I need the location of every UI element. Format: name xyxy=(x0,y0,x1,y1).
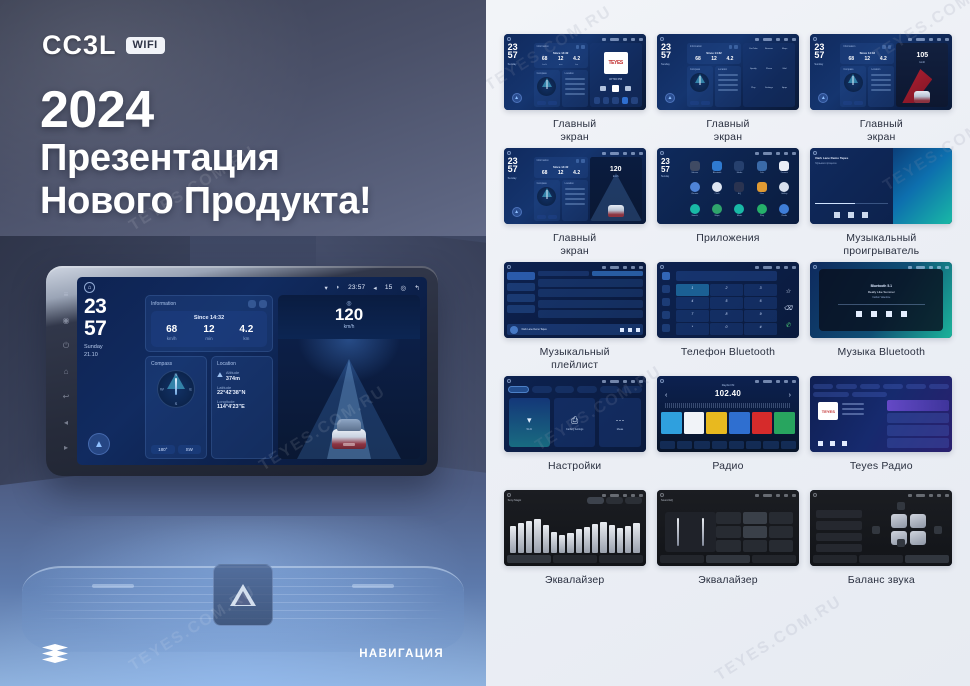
play-store-icon xyxy=(757,204,767,214)
home-icon xyxy=(507,151,511,155)
clock-icon xyxy=(712,182,722,192)
eq-preset-grid[interactable] xyxy=(716,512,793,552)
station-list[interactable] xyxy=(887,400,949,448)
mini-location-lines xyxy=(871,71,891,91)
home-screen-music[interactable]: 23 57 Sunday ▲ Information xyxy=(504,34,646,110)
tile-caption: Музыка Bluetooth xyxy=(838,346,926,359)
mini-home-body: 23 57 Sunday ▲ Information Since 14:32 xyxy=(814,43,948,107)
clock-date: 21.10 xyxy=(84,352,140,360)
mini-stats: 68 12 4.2 xyxy=(690,57,738,62)
mini-status-bar xyxy=(660,264,796,270)
stat-time-value: 12 xyxy=(190,325,227,336)
mini-widget-row: Compass Location xyxy=(687,66,741,108)
key-3[interactable]: 3 xyxy=(744,284,777,296)
tile-caption: Главный экран xyxy=(860,118,903,144)
key-7[interactable]: 7 xyxy=(676,310,709,322)
information-card-actions[interactable] xyxy=(248,300,267,308)
maps-icon xyxy=(712,204,722,214)
console-slot-right xyxy=(352,584,394,588)
wifi-icon: ▾ xyxy=(324,284,327,292)
eq-tabs[interactable] xyxy=(507,555,643,563)
mini-card-title: Information xyxy=(537,159,549,163)
prev-icon[interactable] xyxy=(856,311,862,317)
play-pause-icon[interactable] xyxy=(871,311,877,317)
call-history-icon[interactable] xyxy=(662,311,670,319)
head-unit-button-rail[interactable]: ≡ ◉ ⏻ ⌂ ↩ ◂ ▸ xyxy=(58,290,74,452)
settings-card-more[interactable]: ⋯ Меню xyxy=(599,398,640,447)
mini-stats: 68 12 4.2 xyxy=(843,57,891,62)
car-plate xyxy=(343,443,355,446)
mini-compass-card: Compass xyxy=(687,66,713,108)
gallery-cell[interactable]: 23 57 Sunday ▲ Information xyxy=(502,34,647,146)
radio-icon xyxy=(779,204,789,214)
mini-card-title: Information xyxy=(537,45,549,49)
gallery-cell[interactable]: Raydio FM 102.40 ‹ › xyxy=(655,376,800,488)
settings-card-car[interactable]: ⎙ Car/EQ Settings xyxy=(554,398,595,447)
prev-icon[interactable] xyxy=(834,212,840,218)
camera-icon[interactable]: ◎ xyxy=(400,284,406,292)
app-label: Search xyxy=(692,215,698,217)
mini-status-bar xyxy=(660,492,796,498)
prev-icon xyxy=(600,86,606,91)
preset-1[interactable] xyxy=(661,412,682,434)
widget-column: Information Since 14:32 xyxy=(145,295,273,459)
music-icon xyxy=(734,204,744,214)
calculator-icon xyxy=(757,161,767,171)
frequency-scale[interactable] xyxy=(665,403,791,408)
mini-music-widget: TEYES 07:50 PM xyxy=(590,43,642,107)
home-icon[interactable]: ⌂ xyxy=(84,282,95,293)
mini-compass-card: Compass xyxy=(534,70,560,108)
preset-add[interactable] xyxy=(774,412,795,434)
mini-equalizer: Sony Magic xyxy=(504,490,646,566)
headline-year: 2024 xyxy=(40,84,371,137)
altitude-label: Altitude xyxy=(226,370,239,375)
contacts-icon[interactable] xyxy=(662,285,670,293)
mini-compass-readout xyxy=(690,101,710,105)
balance-presets[interactable] xyxy=(816,510,861,552)
mini-status-bar xyxy=(507,150,643,156)
app-label: Camera xyxy=(781,172,788,174)
wifi-icon: ▾ xyxy=(527,415,532,426)
status-icons xyxy=(908,494,949,497)
radio-toolbar[interactable] xyxy=(660,441,796,449)
eq-preset-label: Sony Magic xyxy=(508,499,522,502)
compass-needle xyxy=(175,378,177,395)
mini-information-card: Information Since 14:32 68 12 4.2 xyxy=(534,157,588,178)
altitude-value: 374m xyxy=(226,376,240,382)
gallery-cell[interactable]: Dark Lane Demo Tapes Музыкальный плейлис… xyxy=(502,262,647,374)
stat-speed: 68 km/h xyxy=(153,325,190,342)
app-label: Music xyxy=(737,215,742,217)
mini-compass-title: Compass xyxy=(690,68,710,71)
gallery-cell[interactable]: TEYES Teyes Радио xyxy=(809,376,954,488)
rail-button-mode[interactable]: ≡ xyxy=(62,290,71,299)
music-time: 07:50 PM xyxy=(590,77,642,81)
teyes-radio-subbar[interactable] xyxy=(813,392,887,397)
bluetooth-phone-screen[interactable]: 1 2 3 4 5 6 7 8 9 * 0 # xyxy=(657,262,799,338)
preset-3[interactable] xyxy=(706,412,727,434)
rail-button-nav[interactable]: ◉ xyxy=(62,316,71,325)
status-volume-value: 15 xyxy=(385,284,393,291)
car-glass xyxy=(337,419,361,431)
teyes-radio-topbar[interactable] xyxy=(813,384,949,389)
gallery-cell[interactable]: ▾ Wi-Fi ⎙ Car/EQ Settings ⋯ Меню xyxy=(502,376,647,488)
gallery-cell[interactable]: 23 57 Sunday ▲ Information Since 14:32 xyxy=(809,34,954,146)
balance-tabs[interactable] xyxy=(813,555,949,563)
seek-progress xyxy=(815,203,855,204)
app-label: EQ xyxy=(738,193,741,195)
gallery-cell[interactable]: Bluetooth 5.1 Really Like Summer Carlton… xyxy=(809,262,954,374)
playlist-sidebar[interactable] xyxy=(507,272,535,316)
equalizer-screen-2[interactable]: Sound EQ xyxy=(657,490,799,566)
arrow-up-icon[interactable] xyxy=(897,502,905,510)
mini-compass-readout xyxy=(843,101,863,105)
favorite-icon[interactable]: ☆ xyxy=(783,288,792,297)
console-slot-left xyxy=(92,584,134,588)
music-playlist-screen[interactable]: Dark Lane Demo Tapes xyxy=(504,262,646,338)
phone-number-field[interactable] xyxy=(676,271,777,281)
key-5[interactable]: 5 xyxy=(710,297,743,309)
playlist-tabs[interactable] xyxy=(538,271,643,276)
phone-sidebar[interactable] xyxy=(659,270,673,334)
hud-speed-unit: km/h xyxy=(896,61,948,64)
mini-stat-3: 4.2 xyxy=(875,57,891,62)
home-screen-hud-red[interactable]: 23 57 Sunday ▲ Information Since 14:32 xyxy=(810,34,952,110)
settings-tabs[interactable] xyxy=(508,386,642,393)
status-bar-right: ▾ ◗ 23:57 ◂ 15 ◎ ↰ xyxy=(324,284,420,292)
stat-distance-value: 4.2 xyxy=(228,325,265,336)
road-graphic: 105 km/h xyxy=(896,43,948,107)
app-label: Spotify xyxy=(747,68,760,70)
mini-clock-minutes: 57 xyxy=(508,51,532,59)
chrome-icon xyxy=(690,182,700,192)
mini-stats: 68km/h 12min 4.2km xyxy=(537,57,585,66)
status-icons xyxy=(755,152,796,155)
stat-time-unit: min xyxy=(205,336,212,341)
brand-logo: CC3L WIFI xyxy=(42,32,165,59)
compass-heading: 180° xyxy=(151,445,175,454)
mini-home-body: 23 57 Sunday ▲ Information xyxy=(508,43,642,107)
dialpad-keys[interactable]: 1 2 3 4 5 6 7 8 9 * 0 # xyxy=(676,284,777,335)
refresh-icon[interactable] xyxy=(259,300,267,308)
pause-icon xyxy=(628,328,632,332)
key-9[interactable]: 9 xyxy=(744,310,777,322)
radio-band-label: Raydio FM xyxy=(657,384,799,387)
road-graphic xyxy=(278,339,420,459)
teyes-radio-screen[interactable]: TEYES xyxy=(810,376,952,452)
compass-card-title: Compass xyxy=(151,361,201,367)
mini-balance xyxy=(810,490,952,566)
car-dashboard-illustration: ≡ ◉ ⏻ ⌂ ↩ ◂ ▸ ⌂ ▾ ◗ 23:57 xyxy=(0,236,486,686)
bluetooth-version-label: Bluetooth 5.1 xyxy=(871,284,892,288)
gallery-cell[interactable]: 1 2 3 4 5 6 7 8 9 * 0 # xyxy=(655,262,800,374)
mini-clock: 23 57 Sunday ▲ xyxy=(814,43,838,107)
home-icon xyxy=(813,493,817,497)
mini-card-header: Information xyxy=(690,45,738,49)
hud-panel[interactable]: ◎ 120 km/h xyxy=(278,295,420,459)
gallery-cell[interactable]: Баланс звука xyxy=(809,490,954,602)
mini-card-header: Information xyxy=(537,45,585,49)
headline-line-2: Презентация xyxy=(40,137,371,180)
dialpad-tab-icon[interactable] xyxy=(662,272,670,280)
sound-balance-screen[interactable] xyxy=(810,490,952,566)
album-art: TEYES xyxy=(604,52,628,74)
mini-stat-3: 4.2 xyxy=(569,171,585,176)
stat-time: 12 min xyxy=(190,325,227,342)
equalizer-screen[interactable]: Sony Magic xyxy=(504,490,646,566)
hud-speed-value: 105 xyxy=(896,52,948,59)
mini-compass-readout xyxy=(537,215,557,219)
rail-button-back[interactable]: ↩ xyxy=(62,392,71,401)
mini-compass-title: Compass xyxy=(537,182,557,185)
mini-compass-card: Compass xyxy=(534,180,560,222)
mini-clock-minutes: 57 xyxy=(814,51,838,59)
altitude-row: ⛰ Altitude 374m xyxy=(217,370,267,382)
mini-clock: 23 57 Sunday ▲ xyxy=(508,43,532,107)
mini-clock-day: Sunday xyxy=(661,63,685,67)
next-icon[interactable] xyxy=(901,311,907,317)
mini-stat-1: 68 xyxy=(843,57,859,62)
mini-clock-minutes: 57 xyxy=(661,51,685,59)
gallery-cell[interactable]: Sony Magic Эквалайзер xyxy=(502,490,647,602)
key-1[interactable]: 1 xyxy=(676,284,709,296)
navigation-arrow-icon[interactable]: ▲ xyxy=(88,433,110,455)
hud-speed-unit: km/h xyxy=(278,324,420,330)
media-icon xyxy=(734,161,744,171)
eq-dual-sliders[interactable] xyxy=(665,512,716,552)
app-label: Mail xyxy=(778,68,791,70)
mini-apps-screen: 23 57 Sunday Volume Bluetooth Media Calc… xyxy=(657,148,799,224)
key-6[interactable]: 6 xyxy=(744,297,777,309)
volume-icon[interactable]: ◂ xyxy=(373,284,376,292)
mini-clock: 23 57 Sunday ▲ xyxy=(508,157,532,221)
mini-dialpad: 1 2 3 4 5 6 7 8 9 * 0 # xyxy=(657,262,799,338)
status-icons xyxy=(755,494,796,497)
hazard-light-button[interactable] xyxy=(213,564,273,626)
mini-since: Since 14:32 xyxy=(690,51,738,55)
mini-home-screen: 23 57 Sunday ▲ Information xyxy=(504,34,646,110)
more-icon: ⋯ xyxy=(615,415,624,426)
mini-information-card: Information Since 14:32 68 12 4.2 xyxy=(687,43,741,64)
app-label: Apps xyxy=(778,87,791,89)
widget-row-2: Compass N S W E 180° xyxy=(145,356,273,460)
key-4[interactable]: 4 xyxy=(676,297,709,309)
seat-front-left[interactable] xyxy=(891,514,907,528)
call-icon[interactable]: ✆ xyxy=(783,322,792,331)
playlist-main xyxy=(538,271,643,324)
app-label: Play xyxy=(760,215,764,217)
rail-button-voldown[interactable]: ◂ xyxy=(62,418,71,427)
rail-button-volup[interactable]: ▸ xyxy=(62,443,71,452)
settings-card-label: Wi-Fi xyxy=(527,428,533,431)
settings-icon[interactable] xyxy=(662,324,670,332)
mini-stat-1: 68 xyxy=(537,171,553,176)
app-label: Gallery xyxy=(781,193,787,195)
mini-stat-2: 12 xyxy=(553,171,569,176)
preset-5[interactable] xyxy=(752,412,773,434)
mini-widget-row: Compass Location xyxy=(840,66,894,108)
brand-name: CC3L xyxy=(42,32,117,59)
key-2[interactable]: 2 xyxy=(710,284,743,296)
app-label: Maps xyxy=(778,48,791,50)
compass-dial-icon xyxy=(690,73,709,92)
location-card[interactable]: Location ⛰ Altitude 374m xyxy=(211,356,273,460)
mini-widget-row: Compass Location xyxy=(534,180,588,222)
mini-widgets: Information Since 14:32 68 12 4.2 xyxy=(840,43,894,107)
now-playing-bar[interactable]: Dark Lane Demo Tapes xyxy=(507,324,643,335)
settings-icon[interactable] xyxy=(248,300,256,308)
compass-dial-icon: N S W E xyxy=(157,370,195,408)
backspace-icon[interactable]: ⌫ xyxy=(783,305,792,314)
mini-radio: Raydio FM 102.40 ‹ › xyxy=(657,376,799,452)
mini-stat-2: 12 xyxy=(553,57,569,62)
gallery-icon xyxy=(779,182,789,192)
mini-hud-widget: 120 km/h xyxy=(590,157,642,221)
home-screen-hud[interactable]: 23 57 Sunday ▲ Information Since 14:32 xyxy=(504,148,646,224)
player-controls[interactable] xyxy=(818,441,847,446)
information-card[interactable]: Information Since 14:32 xyxy=(145,295,273,352)
prev-station-icon[interactable]: ‹ xyxy=(665,392,667,399)
seek-bar[interactable] xyxy=(815,203,887,204)
player-info: Dark Lane Demo Tapes Музыка в процессе xyxy=(810,148,892,224)
since-label: Since 14:32 xyxy=(153,315,265,321)
status-icons xyxy=(908,38,949,41)
visualizer-waves xyxy=(893,148,953,224)
navigation-arrow-icon: ▲ xyxy=(512,93,522,103)
gallery-cell[interactable]: Dark Lane Demo Tapes Музыка в процессе xyxy=(809,148,954,260)
mini-equalizer-2: Sound EQ xyxy=(657,490,799,566)
clock-hours: 23 xyxy=(84,297,140,317)
arrow-right-icon[interactable] xyxy=(934,526,942,534)
key-0[interactable]: 0 xyxy=(710,323,743,335)
gallery-cell[interactable]: 23 57 Sunday ▲ Information Since 14:32 xyxy=(502,148,647,260)
gallery-cell[interactable]: 23 57 Sunday Volume Bluetooth Media Calc… xyxy=(655,148,800,260)
settings-cards[interactable]: ▾ Wi-Fi ⎙ Car/EQ Settings ⋯ Меню xyxy=(509,398,641,447)
app-label: Phone xyxy=(763,68,776,70)
mini-clock-day: Sunday xyxy=(508,63,532,67)
dial-actions[interactable]: ☆ ⌫ ✆ xyxy=(780,284,796,335)
mini-widgets: Information Since 14:32 68 12 4.2 xyxy=(687,43,741,107)
preset-4[interactable] xyxy=(729,412,750,434)
app-label: Maps xyxy=(715,215,720,217)
watermark: TEYES.COM.RU xyxy=(712,593,845,686)
mini-stat-1: 68 xyxy=(690,57,706,62)
mini-card-header: Information xyxy=(537,159,585,163)
mini-card-header: Information xyxy=(843,45,891,49)
key-8[interactable]: 8 xyxy=(710,310,743,322)
car-body xyxy=(332,429,366,449)
mini-card-title: Information xyxy=(843,45,855,49)
key-hash[interactable]: # xyxy=(744,323,777,335)
preset-2[interactable] xyxy=(684,412,705,434)
mini-status-bar xyxy=(660,150,796,156)
radio-presets[interactable] xyxy=(661,412,795,434)
volume-app-icon xyxy=(690,161,700,171)
settings-screen[interactable]: ▾ Wi-Fi ⎙ Car/EQ Settings ⋯ Меню xyxy=(504,376,646,452)
search-icon[interactable] xyxy=(662,298,670,306)
compass-card[interactable]: Compass N S W E 180° xyxy=(145,356,207,460)
eq-sliders[interactable] xyxy=(510,510,640,553)
mini-stat-1-unit: km/h xyxy=(542,64,547,66)
seat-rear-right[interactable] xyxy=(910,531,926,545)
home-screen-apps[interactable]: 23 57 Sunday ▲ Information Since 14:32 xyxy=(657,34,799,110)
mini-widgets: Information Since 14:32 68 12 4.2 xyxy=(534,157,588,221)
player-controls[interactable] xyxy=(620,328,640,332)
stop-icon[interactable] xyxy=(886,311,892,317)
equalizer-icon xyxy=(734,182,744,192)
next-station-icon[interactable]: › xyxy=(789,392,791,399)
mini-location-card: Location xyxy=(562,180,588,222)
latitude-row: Latitude 22°42'38"N xyxy=(217,385,267,396)
gallery-cell[interactable]: Sound EQ Эквалайзер xyxy=(655,490,800,602)
seat-front-right[interactable] xyxy=(910,514,926,528)
next-icon[interactable] xyxy=(862,212,868,218)
radio-screen[interactable]: Raydio FM 102.40 ‹ › xyxy=(657,376,799,452)
status-icons xyxy=(602,152,643,155)
back-icon[interactable]: ↰ xyxy=(414,284,420,292)
pause-icon[interactable] xyxy=(848,212,854,218)
eq-tabs[interactable] xyxy=(660,555,796,563)
album-art: TEYES xyxy=(818,402,838,420)
app-label: Browser xyxy=(763,48,776,50)
stat-distance-unit: km xyxy=(243,336,249,341)
mini-music-player: Dark Lane Demo Tapes Музыка в процессе xyxy=(810,148,952,224)
status-time: 23:57 xyxy=(348,284,365,291)
navigation-arrow-icon: ▲ xyxy=(512,207,522,217)
arrow-left-icon[interactable] xyxy=(872,526,880,534)
player-controls[interactable] xyxy=(815,212,887,218)
mini-stat-3: 4.2 xyxy=(722,57,738,62)
arrow-down-icon[interactable] xyxy=(897,539,905,547)
mini-stat-2-unit: min xyxy=(559,64,563,66)
gallery-cell[interactable]: 23 57 Sunday ▲ Information Since 14:32 xyxy=(655,34,800,146)
car-3d-model xyxy=(608,205,624,217)
bt-music-card: Bluetooth 5.1 Really Like Summer Carlton… xyxy=(819,269,943,331)
music-player-screen[interactable]: Dark Lane Demo Tapes Музыка в процессе xyxy=(810,148,952,224)
status-icons xyxy=(755,380,796,383)
apps-screen[interactable]: 23 57 Sunday Volume Bluetooth Media Calc… xyxy=(657,148,799,224)
information-card-title: Information xyxy=(151,301,176,307)
settings-card-label: Car/EQ Settings xyxy=(566,428,583,431)
car-3d-model xyxy=(914,91,930,103)
eq-preset-chips[interactable] xyxy=(587,497,642,504)
app-label: Clock xyxy=(715,193,720,195)
mini-location-lines xyxy=(565,75,585,95)
rail-button-power[interactable]: ⏻ xyxy=(62,341,71,350)
playlist-rows[interactable] xyxy=(538,279,643,319)
head-unit-screen[interactable]: ⌂ ▾ ◗ 23:57 ◂ 15 ◎ ↰ 23 xyxy=(77,277,427,465)
apps-clock-day: Sunday xyxy=(661,175,681,178)
player-controls[interactable] xyxy=(856,311,907,317)
headline-line-3: Нового Продукта! xyxy=(40,180,371,223)
rail-button-home[interactable]: ⌂ xyxy=(62,367,71,376)
radio-frequency: 102.40 xyxy=(657,389,799,398)
music-bottom-bar xyxy=(594,97,638,104)
key-star[interactable]: * xyxy=(676,323,709,335)
status-icons xyxy=(602,38,643,41)
settings-card-wifi[interactable]: ▾ Wi-Fi xyxy=(509,398,550,447)
seek-bar[interactable] xyxy=(838,304,925,305)
home-icon xyxy=(507,379,511,383)
mini-hud-widget: 105 km/h xyxy=(896,43,948,107)
now-playing-title: Dark Lane Demo Tapes xyxy=(522,328,547,331)
compass-label-n: N xyxy=(175,372,178,377)
car-settings-icon: ⎙ xyxy=(571,415,578,426)
prev-icon xyxy=(818,441,823,446)
information-stats-box: Since 14:32 68 km/h 12 min xyxy=(151,311,267,347)
bluetooth-music-screen[interactable]: Bluetooth 5.1 Really Like Summer Carlton… xyxy=(810,262,952,338)
